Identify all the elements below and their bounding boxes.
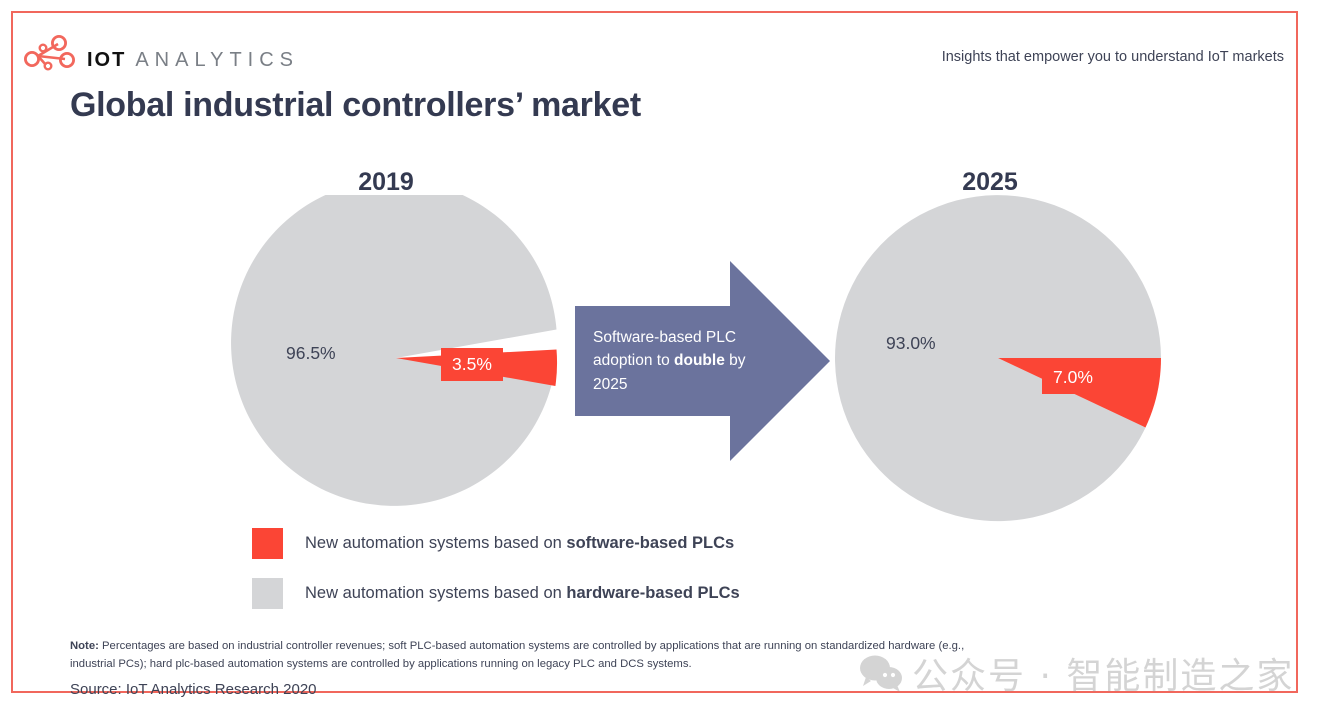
legend-label-software-prefix: New automation systems based on (305, 534, 566, 552)
footnote-note-label: Note: (70, 640, 99, 652)
pie-chart-2025 (828, 195, 1168, 525)
pie-2019-label-hardware: 96.5% (286, 343, 336, 364)
chart-title-2025: 2025 (890, 168, 1090, 197)
pie-2019-slice-hardware (231, 195, 556, 506)
wordmark-analytics: ANALYTICS (135, 49, 299, 71)
arrow-text-bold: double (674, 352, 725, 369)
legend-label-hardware-bold: hardware-based PLCs (566, 584, 739, 602)
pie-chart-2019 (226, 195, 566, 525)
pie-2025-label-hardware: 93.0% (886, 333, 936, 354)
arrow-callout-text: Software-based PLC adoption to double by… (593, 326, 765, 396)
legend-label-hardware-prefix: New automation systems based on (305, 584, 566, 602)
iot-analytics-logo-icon (21, 35, 77, 75)
header: IOTANALYTICS Insights that empower you t… (13, 13, 1296, 75)
pie-2019-label-software: 3.5% (441, 348, 503, 381)
page-title: Global industrial controllers’ market (70, 86, 641, 125)
legend-label-software-bold: software-based PLCs (566, 534, 734, 552)
wordmark-iot: IOT (87, 49, 126, 71)
legend-swatch-hardware (252, 578, 283, 609)
chart-title-2019: 2019 (286, 168, 486, 197)
footnote-source: Source: IoT Analytics Research 2020 (70, 681, 1000, 698)
iot-analytics-wordmark: IOTANALYTICS (87, 49, 299, 72)
footnote-note: Note: Percentages are based on industria… (70, 638, 1000, 673)
legend-item-hardware: New automation systems based on hardware… (252, 568, 740, 618)
footnote-note-text: Percentages are based on industrial cont… (70, 640, 964, 670)
legend-label-hardware: New automation systems based on hardware… (305, 584, 740, 603)
legend-label-software: New automation systems based on software… (305, 534, 734, 553)
legend-swatch-software (252, 528, 283, 559)
slide-canvas: IOTANALYTICS Insights that empower you t… (0, 0, 1331, 712)
slide-frame: IOTANALYTICS Insights that empower you t… (11, 11, 1298, 693)
pie-2025-label-software: 7.0% (1042, 361, 1104, 394)
legend-item-software: New automation systems based on software… (252, 518, 740, 568)
header-tagline: Insights that empower you to understand … (942, 49, 1284, 65)
chart-legend: New automation systems based on software… (252, 518, 740, 618)
footnote: Note: Percentages are based on industria… (70, 638, 1000, 698)
